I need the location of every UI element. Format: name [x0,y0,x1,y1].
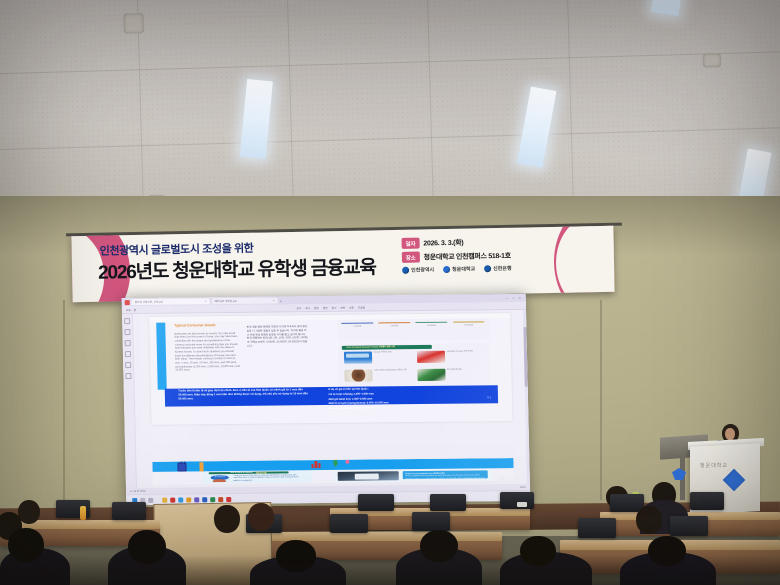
student-foreground-head [276,540,316,572]
banner-meta: 일자 2026. 3. 3.(화) 장소 청운대학교 인천캠퍼스 518-1호 … [402,234,593,274]
lecture-hall-photo: 인천광역시 글로벌도시 조성을 위한 2026년도 청운대학교 유학생 금융교육… [0,0,780,585]
goods-item-noodle: Cold noodles (naengmyeon) 냉면 한 그릇 [344,369,414,386]
student-head [214,505,240,533]
goods-item-snack: A package of snacks 과자 한 봉지 [417,350,487,367]
desk-surface [272,532,502,541]
comment-icon[interactable] [125,351,131,357]
next-slide-body-text: Things you need to bring with you. Bring… [233,474,305,483]
goods-item-rice: Rice 20kg 쌀 20kg [417,368,487,385]
player-icon[interactable] [226,496,231,501]
slide-text-korean: 한국 생활 중에 화폐의 모양과 가치에 익숙하지 않아 물건값을 더 지불한 … [247,325,309,348]
swatch-5000-color [379,322,410,324]
window-controls[interactable]: — □ ✕ [505,296,522,300]
zoom-out-icon[interactable]: − [496,478,497,480]
tab-2-close-icon[interactable]: ✕ [273,299,275,302]
next-slide-card-right: Financial account application form 계좌개설 … [333,469,492,482]
goods-noodle-text: Cold noodles (naengmyeon) 냉면 한 그릇 [374,369,414,386]
swatch-50000: 50,000원권 [453,321,485,327]
student-foreground-head [128,530,166,564]
podium-engraving: 청운대학교 [700,462,728,469]
banner-meta-row: 장소 청운대학교 인천캠퍼스 518-1호 [402,248,592,263]
toolbar-item-share[interactable]: 공유 [349,305,354,309]
monitor [578,518,616,538]
attachment-icon[interactable] [125,373,131,379]
swatch-10000-label: 10,000원권 [416,325,447,328]
powerpoint-icon[interactable] [218,497,223,502]
toolbar-item-annotate[interactable]: 주석 [305,306,310,310]
caption-item-rice: Gạo 20kg: khoảng 50.000~60.000 won [328,405,468,410]
caption-right-block: Ví dụ về giá trị tiền tại Hàn Quốc: Vé x… [328,387,468,411]
orange-box-icon [199,463,203,472]
signature-icon[interactable] [125,362,131,368]
projection-screen: 유학생 금융교육_교재.pdf ✕ 베트남어 자료집.pdf ✕ + — □ ✕ [122,294,531,505]
bar-chart-icon [311,460,321,468]
goods-item-bus: Bus fare 시내버스 요금 [344,351,414,368]
student-foreground-head [420,530,458,562]
excel-icon[interactable] [210,497,215,502]
swatch-5000: 5,000원권 [379,322,411,328]
monitor [412,512,450,531]
edge-icon[interactable] [178,497,183,502]
swatch-5000-label: 5,000원권 [379,325,410,328]
presenter-face [725,428,735,440]
toolbar-item-convert[interactable]: 변환 [322,305,327,309]
search-icon[interactable] [125,340,131,346]
maximize-icon[interactable]: □ [512,296,514,300]
document-viewport[interactable]: Typical Consumer Goods Banknotes are als… [133,310,530,488]
swatch-10000: 10,000원권 [416,322,448,328]
status-zoom-level: 100% [520,485,526,488]
goods-bus-text: Bus fare 시내버스 요금 [374,351,414,368]
fit-page-icon[interactable]: □ [502,478,503,480]
taskview-icon[interactable] [148,497,153,502]
toolbar-menu-home[interactable]: 홈 [134,307,136,311]
pdf-icon[interactable] [170,497,175,502]
vietnamese-caption-box: Trước tiên là tiền tệ và giao dịch tài c… [165,385,498,407]
toolbar-item-form[interactable]: 양식 [331,305,336,309]
toolbar-item-security[interactable]: 보안 [340,305,345,309]
new-tab-button[interactable]: + [280,298,282,303]
banner-place-value: 청운대학교 인천캠퍼스 518-1호 [424,250,511,262]
minimize-icon[interactable]: — [505,296,508,300]
logo-incheon-label: 인천광역시 [411,266,434,273]
status-page-indicator: 6 / 78 쪽 100% [130,489,146,493]
goods-card-title: Uses of Typical Consumer Goods 생활물가 품목 사… [342,345,432,350]
drink-bottle [80,506,86,520]
shinhan-logo-icon [484,265,491,272]
slide-page-number: 6-1 [487,396,491,399]
logo-incheon: 인천광역시 [402,266,434,274]
ceiling-vent [123,13,144,34]
swatch-1000: 1,000원권 [342,322,374,328]
bus-icon [344,351,372,363]
wall-seam [600,300,602,500]
slide-page-next: How to Open an Account 계좌개설 방법 은행 방문 시 준… [152,458,514,484]
student-foreground-head [648,536,686,566]
thumbnails-icon[interactable] [124,318,130,324]
tab-document-1[interactable]: 유학생 금융교육_교재.pdf ✕ [132,298,210,305]
tab-2-label: 베트남어 자료집.pdf [215,299,237,303]
chrome-icon[interactable] [186,497,191,502]
next-slide-card-left: How to Open an Account 계좌개설 방법 은행 방문 시 준… [203,471,312,483]
paper-sheet [517,502,527,507]
logo-shinhan: 신한은행 [484,265,512,273]
monitor [112,502,146,520]
pdf-reader-window: 유학생 금융교육_교재.pdf ✕ 베트남어 자료집.pdf ✕ + — □ ✕ [122,294,531,505]
app-body: Typical Consumer Goods Banknotes are als… [122,310,530,488]
application-form-photo [338,471,399,481]
student-foreground-head [8,528,44,562]
student-head [636,506,662,534]
toolbar-center-group[interactable]: 보기 주석 편집 변환 양식 보안 공유 도움말 [296,305,365,310]
application-form-note: Financial account application form 계좌개설 … [403,470,487,479]
screen-surface: 유학생 금융교육_교재.pdf ✕ 베트남어 자료집.pdf ✕ + — □ ✕ [122,294,531,505]
student-head [248,503,274,531]
goods-snack-text: A package of snacks 과자 한 봉지 [447,350,487,367]
monitor [670,516,708,536]
ceiling-vent [703,53,721,67]
snack-icon [417,351,445,363]
monitor [430,494,466,511]
shopping-bag-icon [177,463,186,472]
event-banner: 인천광역시 글로벌도시 조성을 위한 2026년도 청운대학교 유학생 금융교육… [71,226,614,302]
bookmarks-icon[interactable] [124,329,130,335]
banner-date-value: 2026. 3. 3.(화) [423,237,463,248]
caption-left-text: Trước tiên là tiền tệ và giao dịch tài c… [178,389,311,402]
banknote-swatches: 1,000원권 5,000원권 10,000원권 [342,321,485,328]
logo-chungwoon: 청운대학교 [443,265,475,273]
ceiling-speaker [633,145,651,157]
application-form-note-body: Fill out an application form according t… [405,475,485,483]
page-tool-icons[interactable]: − + □ [496,478,504,480]
zoom-in-icon[interactable]: + [499,478,500,480]
plant-icon [333,460,339,469]
toolbar-item-edit[interactable]: 편집 [314,306,319,310]
banner-meta-row: 일자 2026. 3. 3.(화) [402,234,592,249]
toolbar-item-help[interactable]: 도움말 [358,305,365,309]
banner-title: 2026년도 청운대학교 유학생 금융교육 [98,252,376,284]
swatch-1000-color [342,322,373,324]
monitor [330,514,368,533]
swatch-1000-label: 1,000원권 [342,325,373,328]
consumer-goods-card: Uses of Typical Consumer Goods 생활물가 품목 사… [337,343,490,390]
close-icon[interactable]: ✕ [518,296,521,300]
slide-section-title: Typical Consumer Goods [174,323,215,327]
banner-date-tag: 일자 [402,238,420,249]
swatch-50000-label: 50,000원권 [453,324,484,327]
explorer-icon[interactable] [162,497,167,502]
pink-dot-icon [346,460,350,464]
toolbar-menu-file[interactable]: 파일 [126,308,131,312]
teams-icon[interactable] [194,497,199,502]
app-logo-icon [125,300,130,305]
slide-text-english: Banknotes are also known as money. You m… [174,331,240,372]
toolbar-item-view[interactable]: 보기 [296,306,301,310]
swatch-50000-color [453,321,484,323]
avatar-illustration-icon [213,479,226,483]
swatch-10000-color [416,322,447,324]
ceiling-speaker [138,119,158,134]
student-foreground-head [520,536,556,566]
monitor [690,492,724,510]
banner-place-tag: 장소 [402,252,420,263]
slide-page-current: Typical Consumer Goods Banknotes are als… [149,314,513,426]
chungwoon-logo-icon [443,266,450,273]
logo-chungwoon-label: 청운대학교 [452,265,475,272]
tab-1-close-icon[interactable]: ✕ [205,300,207,303]
word-icon[interactable] [202,497,207,502]
banknote-swatch-card: 1,000원권 5,000원권 10,000원권 [337,318,489,341]
tab-document-2[interactable]: 베트남어 자료집.pdf ✕ [212,298,278,305]
rice-bag-icon [417,369,445,381]
monitor [358,494,394,511]
wall-seam [63,300,65,515]
noodle-bowl-icon [344,369,372,381]
tab-1-label: 유학생 금융교육_교재.pdf [135,300,163,304]
logo-shinhan-label: 신한은행 [493,265,512,272]
incheon-logo-icon [402,267,409,274]
page-accent-bar [156,323,166,390]
goods-rice-text: Rice 20kg 쌀 20kg [447,368,487,385]
